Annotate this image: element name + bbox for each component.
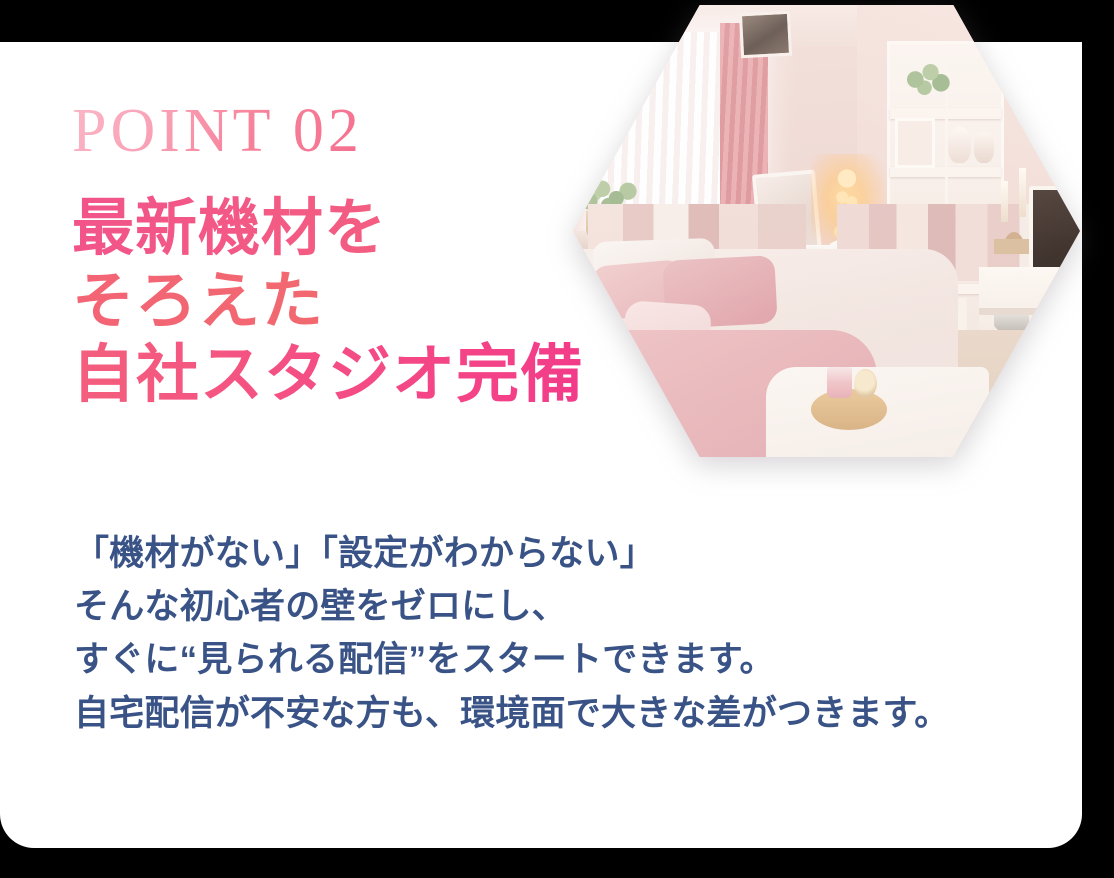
shelf-vase-left [948, 127, 971, 163]
studio-photo-hexagon [573, 5, 1080, 457]
headline-line-2: そろえた [72, 265, 612, 338]
monitor-screen [1029, 186, 1080, 272]
wall-poster [739, 10, 792, 58]
hexagon-clip [573, 5, 1080, 457]
headline-line-3: 自社スタジオ完備 [72, 338, 612, 412]
body-line-4: 自宅配信が不安な方も、環境面で大きな差がつきます。 [74, 687, 1034, 740]
ceiling [573, 5, 1080, 46]
body-line-3: すぐに“見られる配信”をスタートできます。 [74, 633, 1034, 686]
body-copy-block: 「機材がない」「設定がわからない」 そんな初心者の壁をゼロにし、 すぐに“見られ… [74, 527, 1034, 740]
headline-line-1: 最新機材を [72, 192, 612, 265]
candle-left [1001, 181, 1008, 222]
candle-right [1019, 168, 1026, 218]
body-line-2: そんな初心者の壁をゼロにし、 [74, 580, 1034, 633]
shelf-photo-frame [895, 118, 936, 168]
shelf-plant [897, 59, 958, 100]
pink-mug [827, 367, 852, 399]
shelf-vase-right [974, 132, 994, 164]
media-console-shelf [979, 308, 1080, 315]
screenshot-stage: POINT 02 最新機材を そろえた 自社スタジオ完備 「機材がない」「設定が… [0, 0, 1114, 878]
headline-block: 最新機材を そろえた 自社スタジオ完備 [72, 192, 612, 413]
point-eyebrow-label: POINT 02 [72, 100, 363, 162]
body-line-1: 「機材がない」「設定がわからない」 [74, 527, 1034, 580]
candle-holder [994, 217, 1035, 253]
studio-room-illustration [573, 5, 1080, 457]
